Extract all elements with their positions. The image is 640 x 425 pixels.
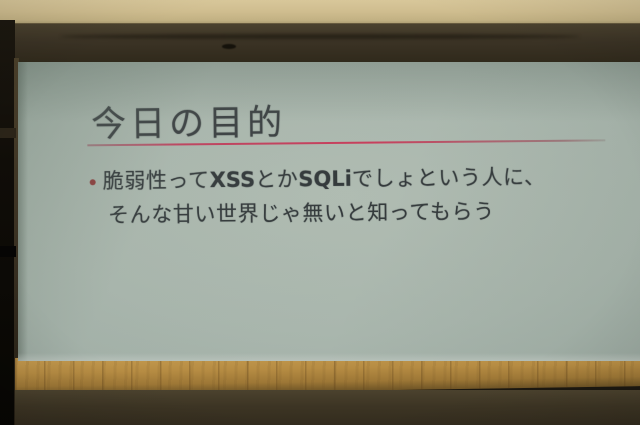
bullet-line-2: そんな甘い世界じゃ無いと知ってもらう [88,193,608,232]
soffit-shadow [60,34,580,39]
floor-shadow [15,390,640,425]
slide-content: 今日の目的 脆弱性ってXSSとかSQLiでしょという人に、 そんな甘い世界じゃ無… [18,62,640,361]
ceiling-beam [0,0,640,26]
bullet-text-middle: とか [255,167,298,191]
left-wall-band-lower [0,246,16,257]
left-wall-band-upper [0,128,16,138]
presentation-photo: 今日の目的 脆弱性ってXSSとかSQLiでしょという人に、 そんな甘い世界じゃ無… [0,0,640,425]
bullet-text-prefix: 脆弱性って [103,168,210,193]
slide-bullet-list: 脆弱性ってXSSとかSQLiでしょという人に、 そんな甘い世界じゃ無いと知っても… [88,159,609,232]
projection-screen: 今日の目的 脆弱性ってXSSとかSQLiでしょという人に、 そんな甘い世界じゃ無… [18,62,640,361]
keyword-xss: XSS [210,168,256,192]
left-dark-column [0,20,15,425]
keyword-sqli: SQLi [298,167,352,192]
bullet-line-1: 脆弱性ってXSSとかSQLiでしょという人に、 [88,159,608,198]
bullet-text-suffix: でしょという人に、 [352,165,546,191]
soffit-fixture [222,44,236,49]
slide-title: 今日の目的 [91,94,286,147]
